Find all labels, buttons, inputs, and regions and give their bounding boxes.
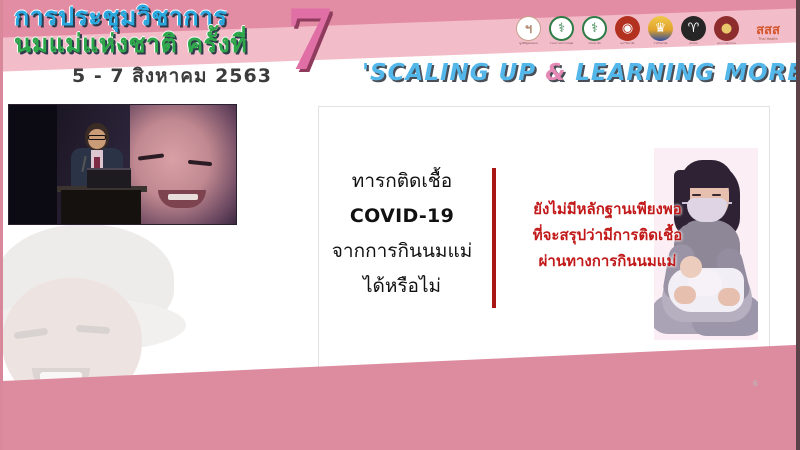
red-crest-logo-icon: ● [714,16,739,41]
conference-title-block: การประชุมวิชาการ นมแม่แห่งชาติ ครั้งที่ … [14,2,304,91]
tagline-text-part2: LEARNING MORE' [566,60,800,86]
university-emblem-logo-icon: ◉ [615,16,640,41]
sponsor-logo-4: ◉ มหาวิทยาลัย [614,16,641,45]
presentation-slide: การประชุมวิชาการ นมแม่แห่งชาติ ครั้งที่ … [0,0,800,450]
right-edge-border [796,0,800,450]
answer-line-2: ที่จะสรุปว่ามีการติดเชื้อ [500,222,715,248]
sponsor-logo-6-caption: สมาคม [680,42,707,45]
question-line-3: จากการกินนมแม่ [324,234,480,269]
sponsor-logo-2: ⚕ กระทรวงสาธารณสุข [548,16,575,45]
sponsor-logo-6: ♈ สมาคม [680,16,707,45]
sponsor-logo-2-caption: กระทรวงสาธารณสุข [548,42,575,45]
ministry-health-logo-icon: ⚕ [549,16,574,41]
glasses-icon [88,135,106,140]
sponsor-logo-1-caption: มูลนิธิศูนย์นมแม่ [515,42,542,45]
question-text-block: ทารกติดเชื้อ COVID-19 จากการกินนมแม่ ได้… [324,164,480,304]
vertical-divider [492,168,496,308]
thaihealth-logo: สสส Thai Health [746,19,790,45]
illustration-hand-left [674,286,696,304]
answer-text-block: ยังไม่มีหลักฐานเพียงพอ ที่จะสรุปว่ามีการ… [500,196,715,274]
sponsor-logo-5-caption: ราชวิทยาลัย [647,42,674,45]
sponsor-logo-5: ♛ ราชวิทยาลัย [647,16,674,45]
conference-edition-number: 7 [286,0,332,84]
question-line-1: ทารกติดเชื้อ [324,164,480,199]
thaihealth-logo-text: สสส [756,24,780,37]
conference-tagline: 'SCALING UP & LEARNING MORE' [362,60,800,86]
slide-header: การประชุมวิชาการ นมแม่แห่งชาติ ครั้งที่ … [0,0,800,98]
sponsor-logo-7-caption: สภาการพยาบาล [713,42,740,45]
black-emblem-logo-icon: ♈ [681,16,706,41]
sponsor-logo-4-caption: มหาวิทยาลัย [614,42,641,45]
sponsor-logo-1: ฯ มูลนิธิศูนย์นมแม่ [515,16,542,45]
sponsor-logo-7: ● สภาการพยาบาล [713,16,740,45]
sponsor-logo-3-caption: กรมอนามัย [581,42,608,45]
tagline-ampersand: & [545,60,566,86]
health-dept-logo-icon: ⚕ [582,16,607,41]
conference-title-line2: นมแม่แห่งชาติ ครั้งที่ [14,29,304,59]
left-edge-strip [0,0,3,450]
royal-crest-logo-icon: ♛ [648,16,673,41]
thaihealth-logo-subtext: Thai Health [758,37,777,41]
video-dark-left-panel [9,105,57,225]
video-baby-teeth [168,194,198,200]
tagline-text-part1: 'SCALING UP [362,60,545,86]
laptop-icon [87,168,131,188]
illustration-hand-right [718,288,740,306]
video-podium [61,190,141,224]
sponsor-logo-row: ฯ มูลนิธิศูนย์นมแม่ ⚕ กระทรวงสาธารณสุข ⚕… [515,16,790,45]
slide-number: 6 [753,379,758,388]
answer-line-1: ยังไม่มีหลักฐานเพียงพอ [500,196,715,222]
conference-date: 5 - 7 สิงหาคม 2563 [14,61,304,91]
conference-title-line1: การประชุมวิชาการ [14,2,304,32]
sponsor-logo-3: ⚕ กรมอนามัย [581,16,608,45]
speaker-video-insert[interactable] [8,104,237,225]
answer-line-3: ผ่านทางการกินนมแม่ [500,248,715,274]
question-line-4: ได้หรือไม่ [324,269,480,304]
royal-seal-logo-icon: ฯ [516,16,541,41]
question-line-2: COVID-19 [324,199,480,234]
